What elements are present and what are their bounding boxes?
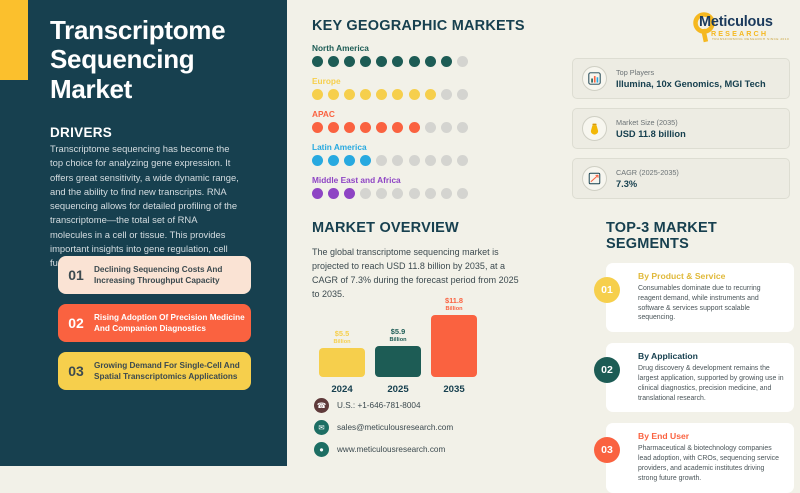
money-bag-icon: [582, 116, 607, 141]
segment-number-badge: 02: [594, 357, 620, 383]
logo-tagline: TRANSFORMING RESEARCH SINCE 2010: [712, 37, 789, 41]
geo-dot-filled: [344, 89, 355, 100]
segment-number-badge: 03: [594, 437, 620, 463]
segment-description: Consumables dominate due to recurring re…: [638, 284, 785, 323]
contact-row[interactable]: ●www.meticulousresearch.com: [314, 442, 453, 457]
geo-region-label: Europe: [312, 76, 562, 86]
left-panel: Transcriptome Sequencing Market DRIVERS …: [0, 0, 287, 466]
geo-dot-filled: [360, 122, 371, 133]
geo-dot-filled: [328, 122, 339, 133]
driver-item-1[interactable]: 01 Declining Sequencing Costs And Increa…: [58, 256, 251, 294]
geo-dot-scale: [312, 122, 562, 133]
segments-list: 01By Product & ServiceConsumables domina…: [606, 263, 794, 493]
segment-number-badge: 01: [594, 277, 620, 303]
geo-dot-scale: [312, 56, 562, 67]
segment-card[interactable]: 02By ApplicationDrug discovery & develop…: [606, 343, 794, 412]
geo-dot-empty: [457, 56, 468, 67]
drivers-heading: DRIVERS: [50, 125, 112, 140]
geo-dot-empty: [425, 188, 436, 199]
geo-dot-filled: [425, 56, 436, 67]
bar-value-label: $11.8Billion: [445, 297, 463, 312]
driver-number: 02: [58, 315, 94, 331]
geo-dot-filled: [376, 89, 387, 100]
geo-dot-filled: [376, 122, 387, 133]
contact-text: U.S.: +1-646-781-8004: [337, 401, 421, 410]
geo-dot-empty: [457, 89, 468, 100]
driver-label: Rising Adoption Of Precision Medicine An…: [94, 312, 251, 335]
geo-dot-scale: [312, 155, 562, 166]
market-overview-section: MARKET OVERVIEW The global transcriptome…: [312, 220, 562, 302]
geo-dot-scale: [312, 89, 562, 100]
contact-row[interactable]: ✉sales@meticulousresearch.com: [314, 420, 453, 435]
geo-dot-empty: [441, 188, 452, 199]
geo-dot-filled: [328, 89, 339, 100]
infographic-page: Transcriptome Sequencing Market DRIVERS …: [0, 0, 800, 466]
logo-wordmark: Meticulous: [699, 14, 773, 30]
segment-card[interactable]: 01By Product & ServiceConsumables domina…: [606, 263, 794, 332]
geo-dot-filled: [360, 56, 371, 67]
geo-dot-filled: [441, 56, 452, 67]
geo-dot-empty: [425, 122, 436, 133]
segment-card[interactable]: 03By End UserPharmaceutical & biotechnol…: [606, 423, 794, 492]
geo-region-label: Latin America: [312, 142, 562, 152]
stat-card-cagr[interactable]: CAGR (2025-2035) 7.3%: [572, 158, 790, 199]
bar-value-label: $5.5Billion: [333, 330, 350, 345]
bar-group: $5.9Billion: [374, 328, 422, 377]
stat-label: CAGR (2025-2035): [616, 168, 679, 177]
geo-dot-empty: [441, 155, 452, 166]
segment-title: By End User: [638, 431, 785, 441]
geo-dot-empty: [425, 155, 436, 166]
phone-icon: ☎: [314, 398, 329, 413]
stat-card-top-players[interactable]: Top Players Illumina, 10x Genomics, MGI …: [572, 58, 790, 99]
bar-category-label: 2035: [430, 384, 478, 395]
geo-dot-filled: [409, 122, 420, 133]
market-overview-text: The global transcriptome sequencing mark…: [312, 246, 527, 302]
geo-dot-filled: [328, 188, 339, 199]
geo-dot-empty: [441, 122, 452, 133]
geo-dot-empty: [409, 155, 420, 166]
geo-dot-empty: [409, 188, 420, 199]
geo-dot-filled: [425, 89, 436, 100]
geo-dot-filled: [344, 188, 355, 199]
geo-dot-filled: [409, 89, 420, 100]
stat-label: Top Players: [616, 68, 766, 77]
company-logo[interactable]: Meticulous RESEARCH TRANSFORMING RESEARC…: [685, 9, 790, 45]
geo-dot-filled: [360, 155, 371, 166]
geo-dot-filled: [344, 122, 355, 133]
stat-cards: Top Players Illumina, 10x Genomics, MGI …: [572, 58, 790, 208]
contact-text: www.meticulousresearch.com: [337, 445, 445, 454]
geo-region-label: North America: [312, 43, 562, 53]
segment-description: Drug discovery & development remains the…: [638, 364, 785, 403]
segments-heading: TOP-3 MARKET SEGMENTS: [606, 220, 794, 252]
geo-dot-filled: [312, 155, 323, 166]
geo-region-label: APAC: [312, 109, 562, 119]
geo-dot-filled: [312, 56, 323, 67]
stat-value: USD 11.8 billion: [616, 129, 686, 139]
market-segments-section: TOP-3 MARKET SEGMENTS 01By Product & Ser…: [606, 220, 794, 493]
market-bar-chart: $5.5Billion2024$5.9Billion2025$11.8Billi…: [318, 300, 488, 395]
stat-value: 7.3%: [616, 179, 679, 189]
contact-text: sales@meticulousresearch.com: [337, 423, 453, 432]
geo-dot-empty: [376, 155, 387, 166]
geo-heading: KEY GEOGRAPHIC MARKETS: [312, 18, 562, 34]
stat-value: Illumina, 10x Genomics, MGI Tech: [616, 79, 766, 89]
geo-dot-filled: [344, 155, 355, 166]
drivers-paragraph: Transcriptome sequencing has become the …: [50, 142, 240, 271]
geo-dot-filled: [312, 188, 323, 199]
geo-dot-filled: [328, 155, 339, 166]
geo-dot-filled: [312, 89, 323, 100]
geo-dot-empty: [392, 155, 403, 166]
stat-card-market-size[interactable]: Market Size (2035) USD 11.8 billion: [572, 108, 790, 149]
geo-region-row: Latin America: [312, 142, 562, 166]
geo-rows: North AmericaEuropeAPACLatin AmericaMidd…: [312, 43, 562, 199]
bar: [431, 315, 477, 377]
email-icon: ✉: [314, 420, 329, 435]
bar-category-label: 2025: [374, 384, 422, 395]
growth-chart-icon: [582, 166, 607, 191]
driver-number: 03: [58, 363, 94, 379]
bar-value-label: $5.9Billion: [389, 328, 406, 343]
geo-dot-filled: [392, 89, 403, 100]
driver-label: Declining Sequencing Costs And Increasin…: [94, 264, 251, 287]
bar-category-label: 2024: [318, 384, 366, 395]
geo-dot-filled: [344, 56, 355, 67]
geo-dot-empty: [457, 122, 468, 133]
geo-dot-empty: [441, 89, 452, 100]
geo-dot-filled: [360, 89, 371, 100]
geo-region-row: Middle East and Africa: [312, 175, 562, 199]
bar-chart-icon: [582, 66, 607, 91]
page-title: Transcriptome Sequencing Market: [50, 16, 265, 104]
geo-dot-filled: [312, 122, 323, 133]
bar: [375, 346, 421, 377]
geo-region-row: North America: [312, 43, 562, 67]
geo-region-label: Middle East and Africa: [312, 175, 562, 185]
geo-dot-filled: [392, 122, 403, 133]
geo-dot-empty: [457, 188, 468, 199]
segment-title: By Application: [638, 351, 785, 361]
accent-bar: [0, 0, 28, 80]
segment-title: By Product & Service: [638, 271, 785, 281]
driver-item-3[interactable]: 03 Growing Demand For Single-Cell And Sp…: [58, 352, 251, 390]
geo-dot-filled: [376, 56, 387, 67]
globe-icon: ●: [314, 442, 329, 457]
geo-region-row: APAC: [312, 109, 562, 133]
geo-dot-filled: [392, 56, 403, 67]
geo-region-row: Europe: [312, 76, 562, 100]
geo-dot-scale: [312, 188, 562, 199]
geo-dot-empty: [360, 188, 371, 199]
geographic-markets-section: KEY GEOGRAPHIC MARKETS North AmericaEuro…: [312, 18, 562, 199]
bar: [319, 348, 365, 377]
contact-block: ☎U.S.: +1-646-781-8004✉sales@meticulousr…: [314, 398, 453, 464]
driver-label: Growing Demand For Single-Cell And Spati…: [94, 360, 251, 383]
bar-group: $11.8Billion: [430, 297, 478, 377]
driver-item-2[interactable]: 02 Rising Adoption Of Precision Medicine…: [58, 304, 251, 342]
market-overview-heading: MARKET OVERVIEW: [312, 220, 562, 236]
geo-dot-empty: [376, 188, 387, 199]
geo-dot-filled: [409, 56, 420, 67]
geo-dot-empty: [457, 155, 468, 166]
driver-number: 01: [58, 267, 94, 283]
segment-description: Pharmaceutical & biotechnology companies…: [638, 444, 785, 483]
geo-dot-empty: [392, 188, 403, 199]
stat-label: Market Size (2035): [616, 118, 686, 127]
bar-group: $5.5Billion: [318, 330, 366, 377]
contact-row[interactable]: ☎U.S.: +1-646-781-8004: [314, 398, 453, 413]
geo-dot-filled: [328, 56, 339, 67]
